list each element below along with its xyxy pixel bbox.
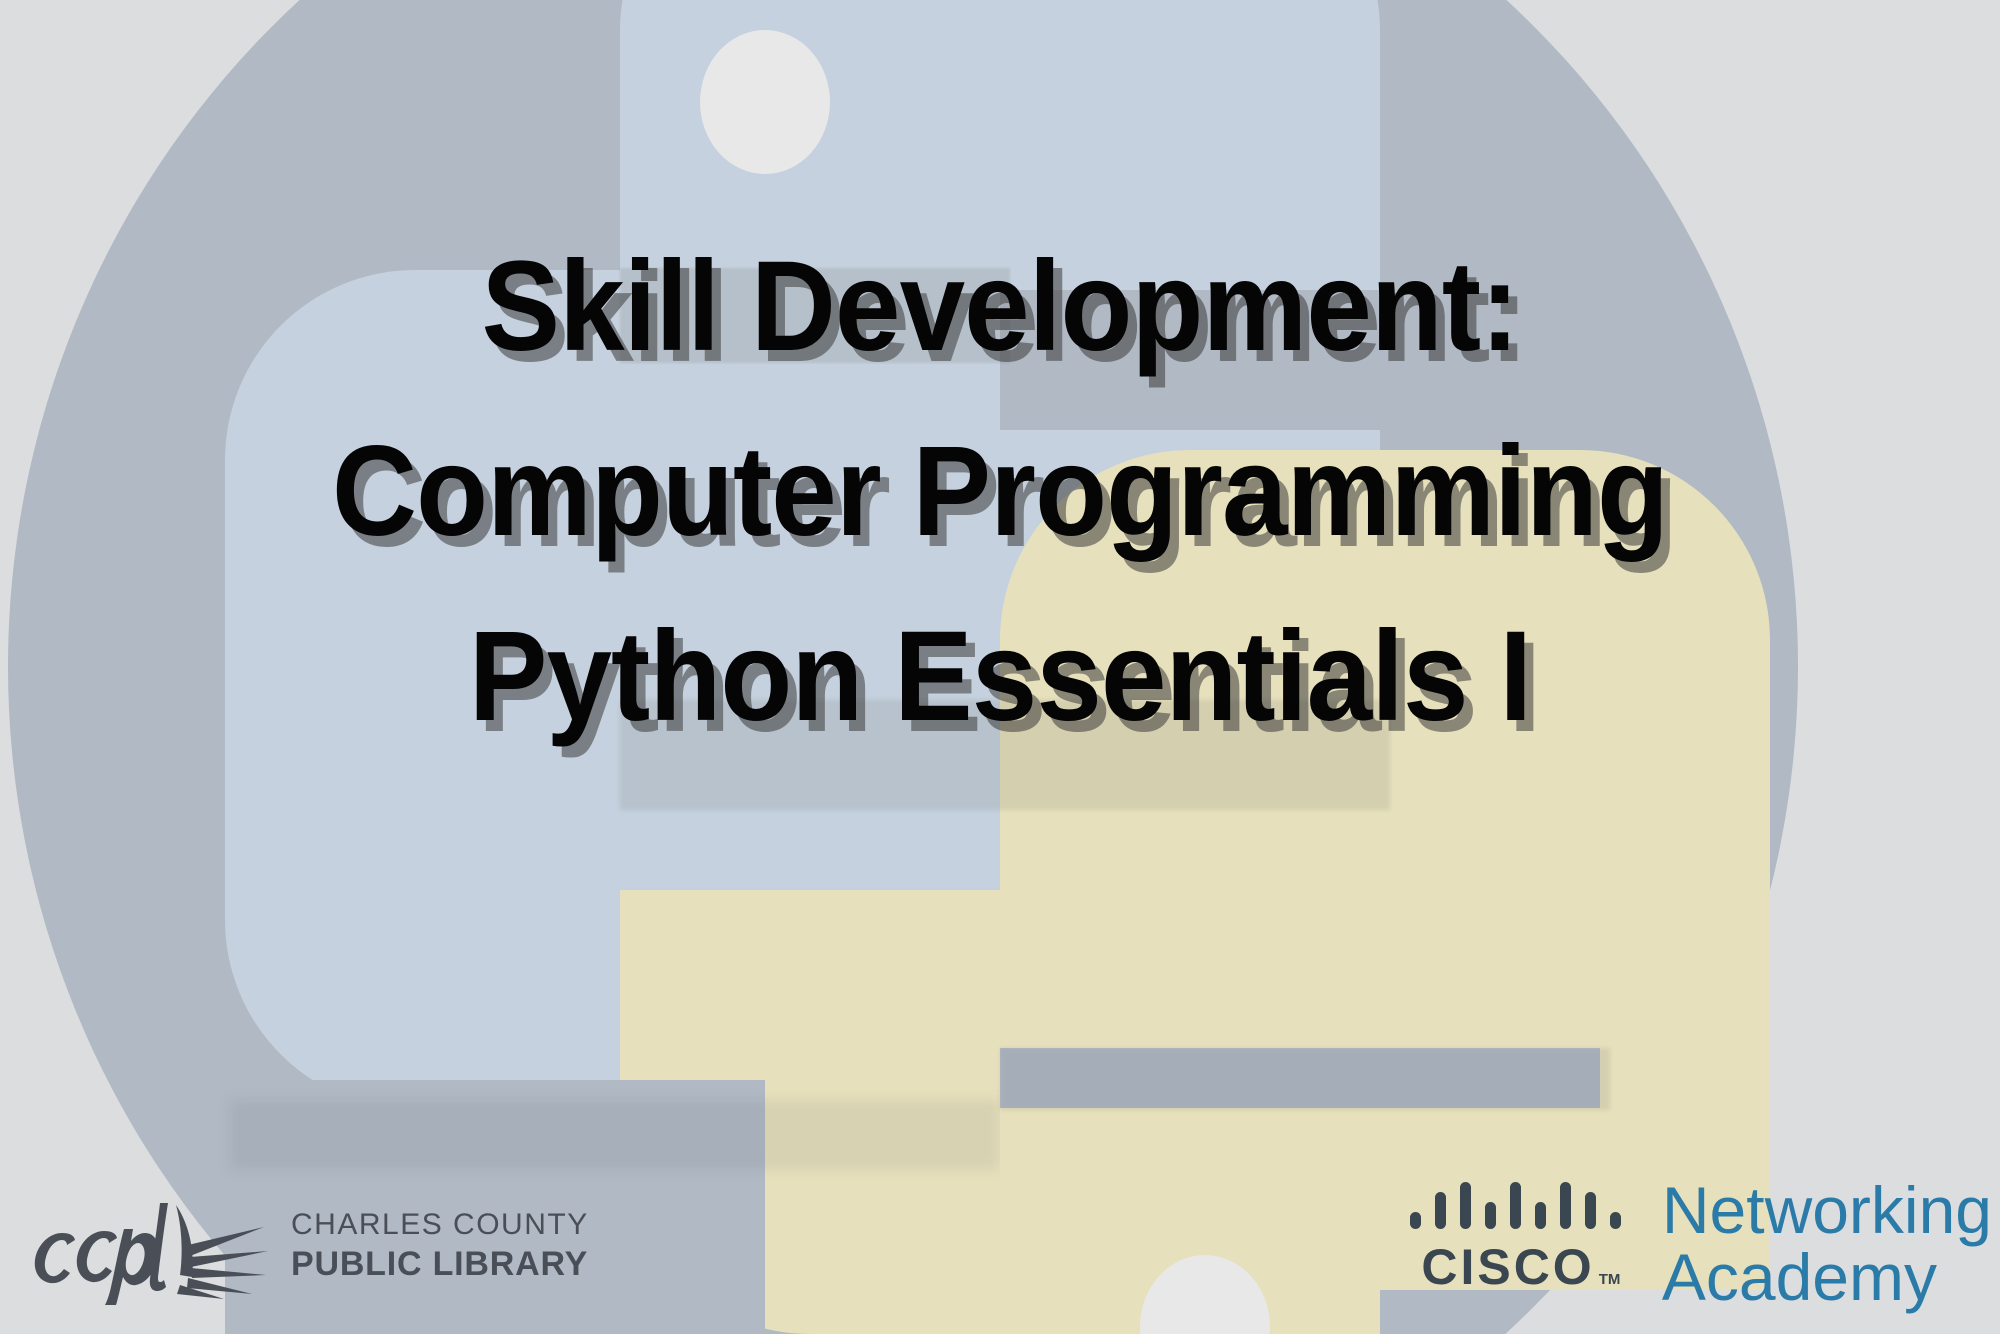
python-eye-top xyxy=(700,30,830,174)
ccpl-wordmark-text: CHARLES COUNTY PUBLIC LIBRARY xyxy=(291,1210,589,1281)
python-shadow-yellow-arm xyxy=(1000,1048,1610,1110)
title-line-3: Python Essentials I xyxy=(80,584,1920,769)
cisco-wordmark: CISCO xyxy=(1421,1238,1594,1296)
page-title: Skill Development: Computer Programming … xyxy=(0,214,2000,769)
title-line-2: Computer Programming xyxy=(80,399,1920,584)
academy-label: Academy xyxy=(1662,1245,1992,1310)
cisco-bridge-bars-icon xyxy=(1406,1178,1636,1234)
cisco-wordmark-row: CISCO TM xyxy=(1406,1238,1636,1296)
networking-academy-text: Networking Academy xyxy=(1662,1178,1992,1309)
ccpl-line-1: CHARLES COUNTY xyxy=(291,1210,589,1240)
cisco-networking-academy-logo: CISCO TM Networking Academy xyxy=(1406,1178,1992,1309)
title-line-1: Skill Development: xyxy=(80,214,1920,399)
ccpl-wordmark-icon xyxy=(28,1185,273,1305)
ccpl-line-2: PUBLIC LIBRARY xyxy=(291,1247,589,1281)
networking-label: Networking xyxy=(1662,1178,1992,1243)
cisco-brandmark: CISCO TM xyxy=(1406,1178,1636,1296)
promo-graphic: Skill Development: Computer Programming … xyxy=(0,0,2000,1334)
python-shadow-lower xyxy=(230,1100,1000,1170)
ccpl-logo: CHARLES COUNTY PUBLIC LIBRARY xyxy=(28,1185,589,1305)
cisco-trademark-symbol: TM xyxy=(1599,1271,1621,1288)
